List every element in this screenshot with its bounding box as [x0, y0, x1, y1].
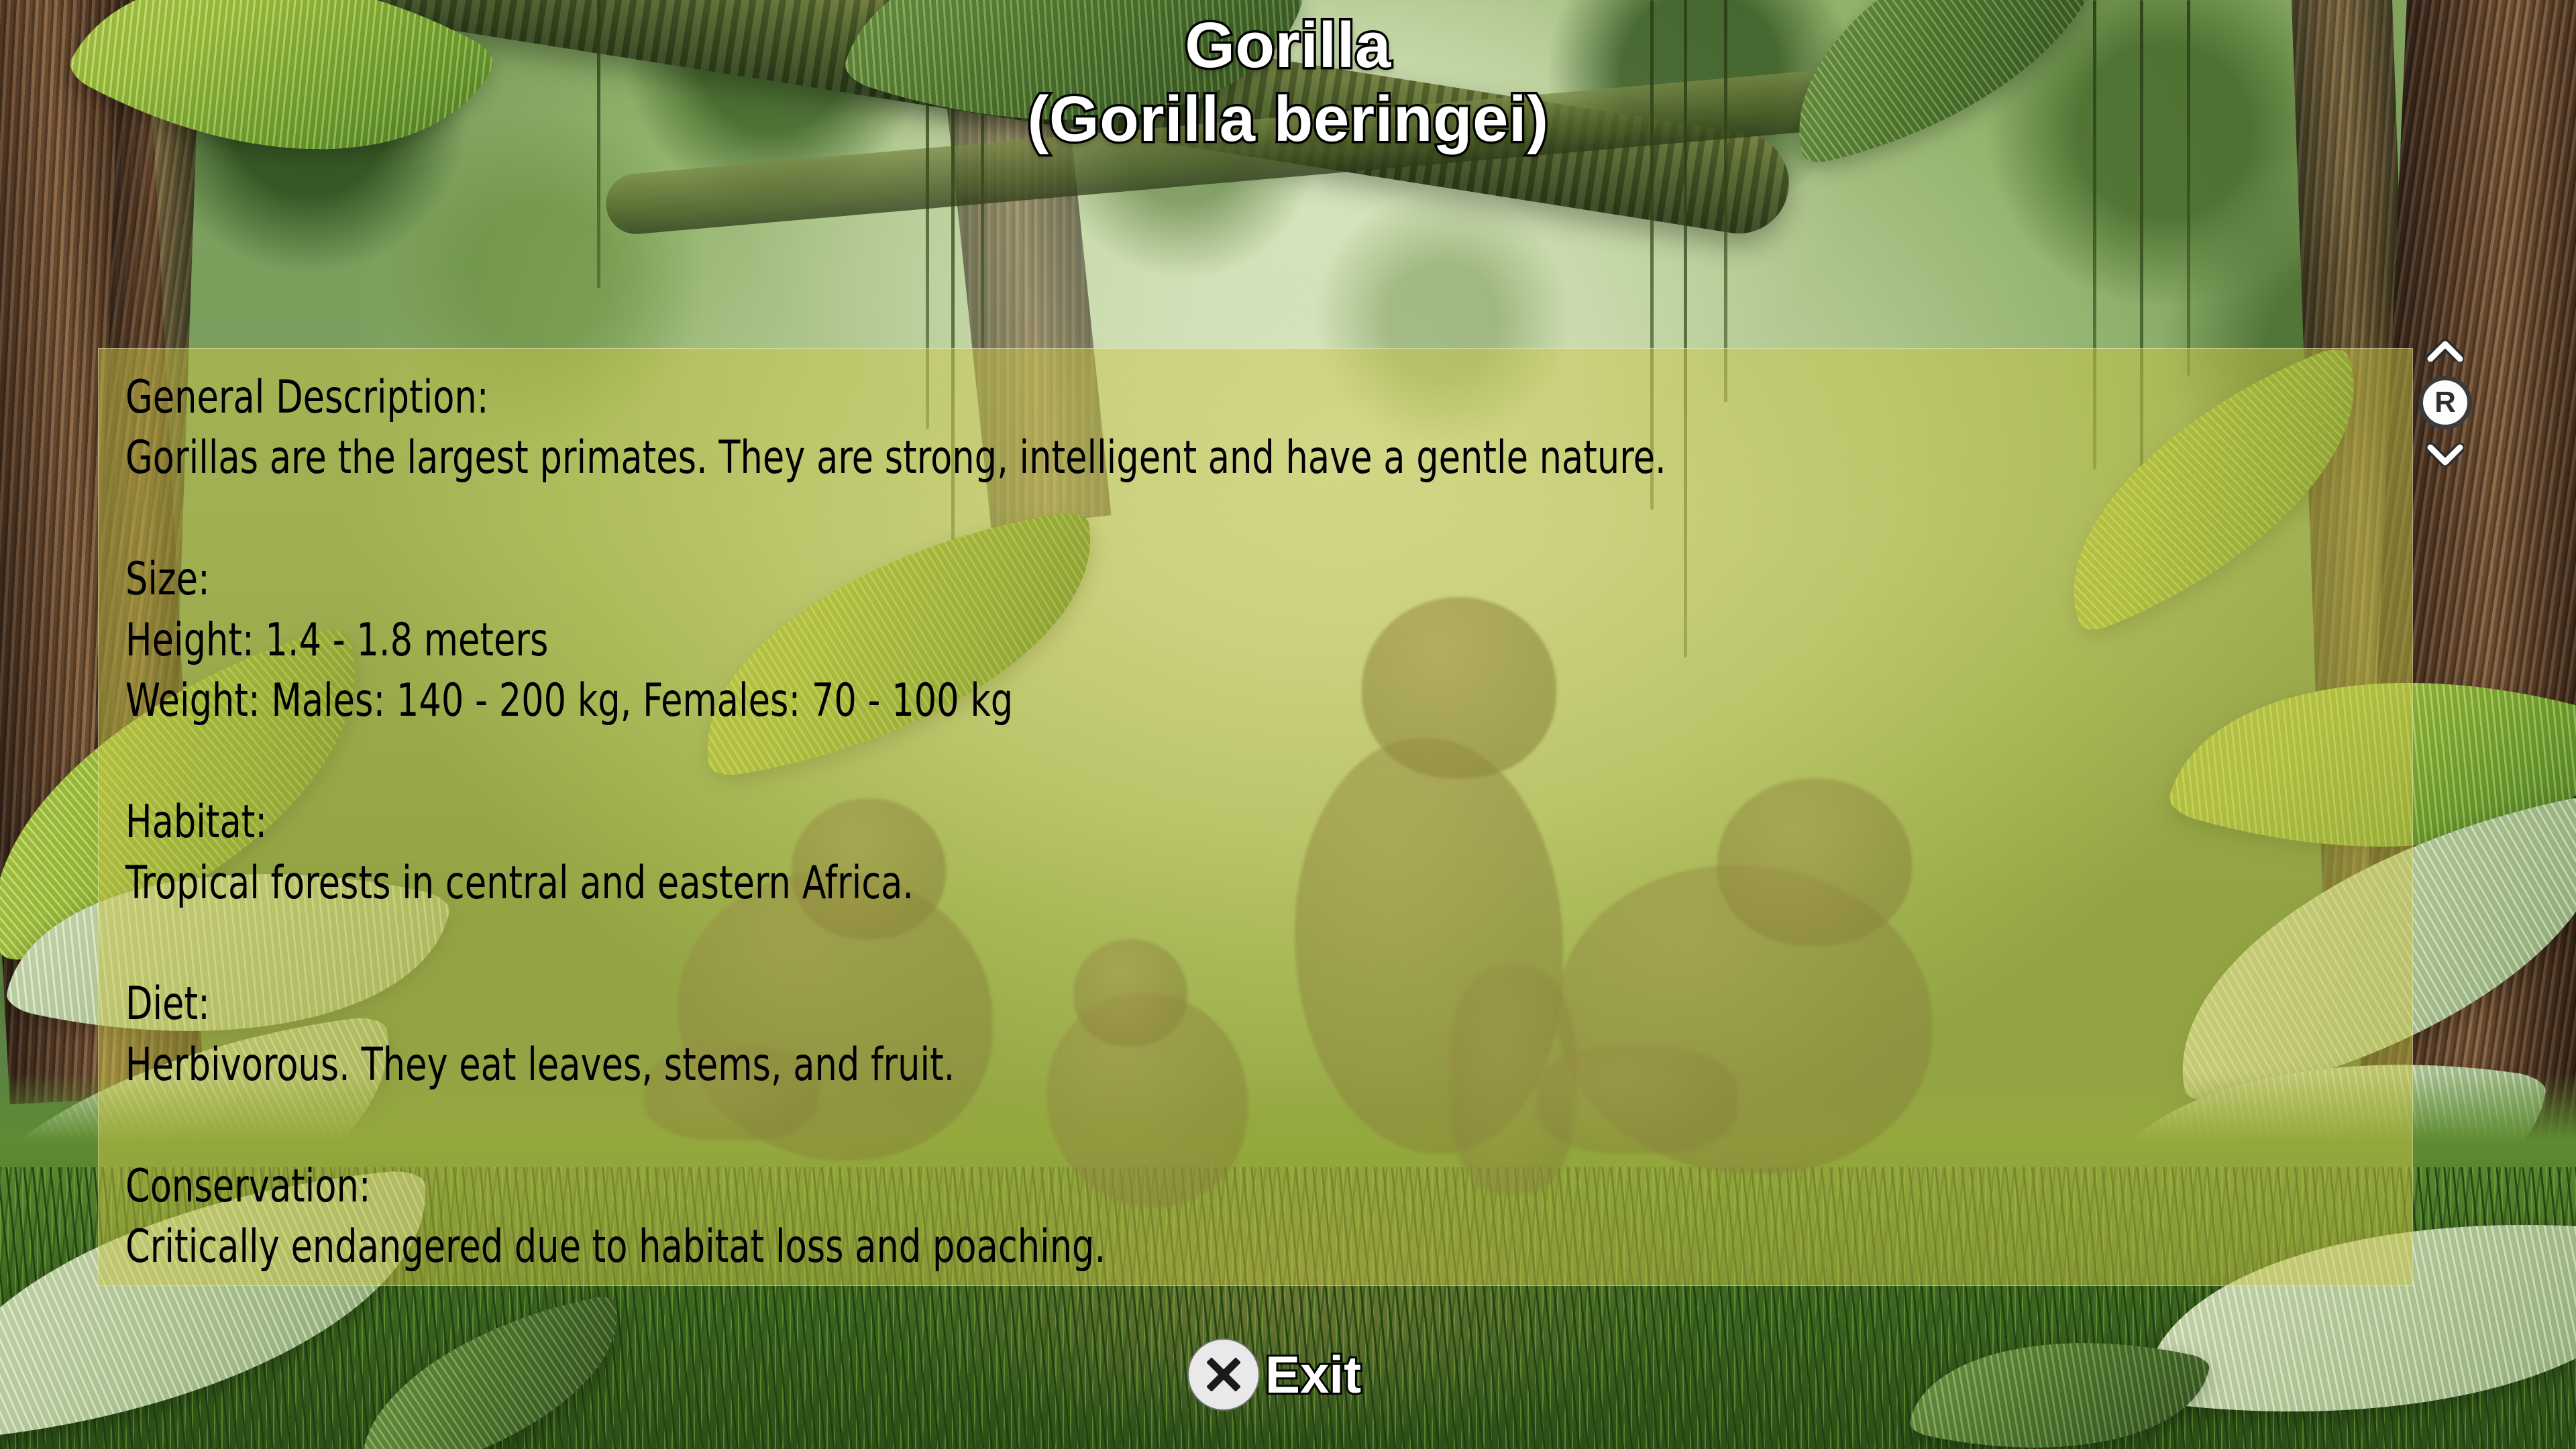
close-x-icon[interactable] — [1187, 1338, 1260, 1411]
scroll-control[interactable]: R — [2424, 339, 2467, 466]
key-hint-label: R — [2434, 386, 2456, 419]
hanging-vine — [1724, 0, 1727, 402]
hanging-vine — [2187, 0, 2190, 376]
hanging-vine — [597, 0, 600, 288]
exit-button[interactable]: Exit — [1187, 1338, 1361, 1411]
key-hint-r[interactable]: R — [2418, 376, 2472, 429]
chevron-up-icon[interactable] — [2426, 339, 2464, 362]
game-screen: Gorilla (Gorilla beringei) General Descr… — [0, 0, 2576, 1449]
chevron-down-icon[interactable] — [2426, 443, 2464, 466]
info-panel-text: General Description: Gorillas are the la… — [125, 368, 2075, 1278]
info-panel: General Description: Gorillas are the la… — [98, 348, 2413, 1286]
exit-button-label: Exit — [1265, 1348, 1361, 1401]
